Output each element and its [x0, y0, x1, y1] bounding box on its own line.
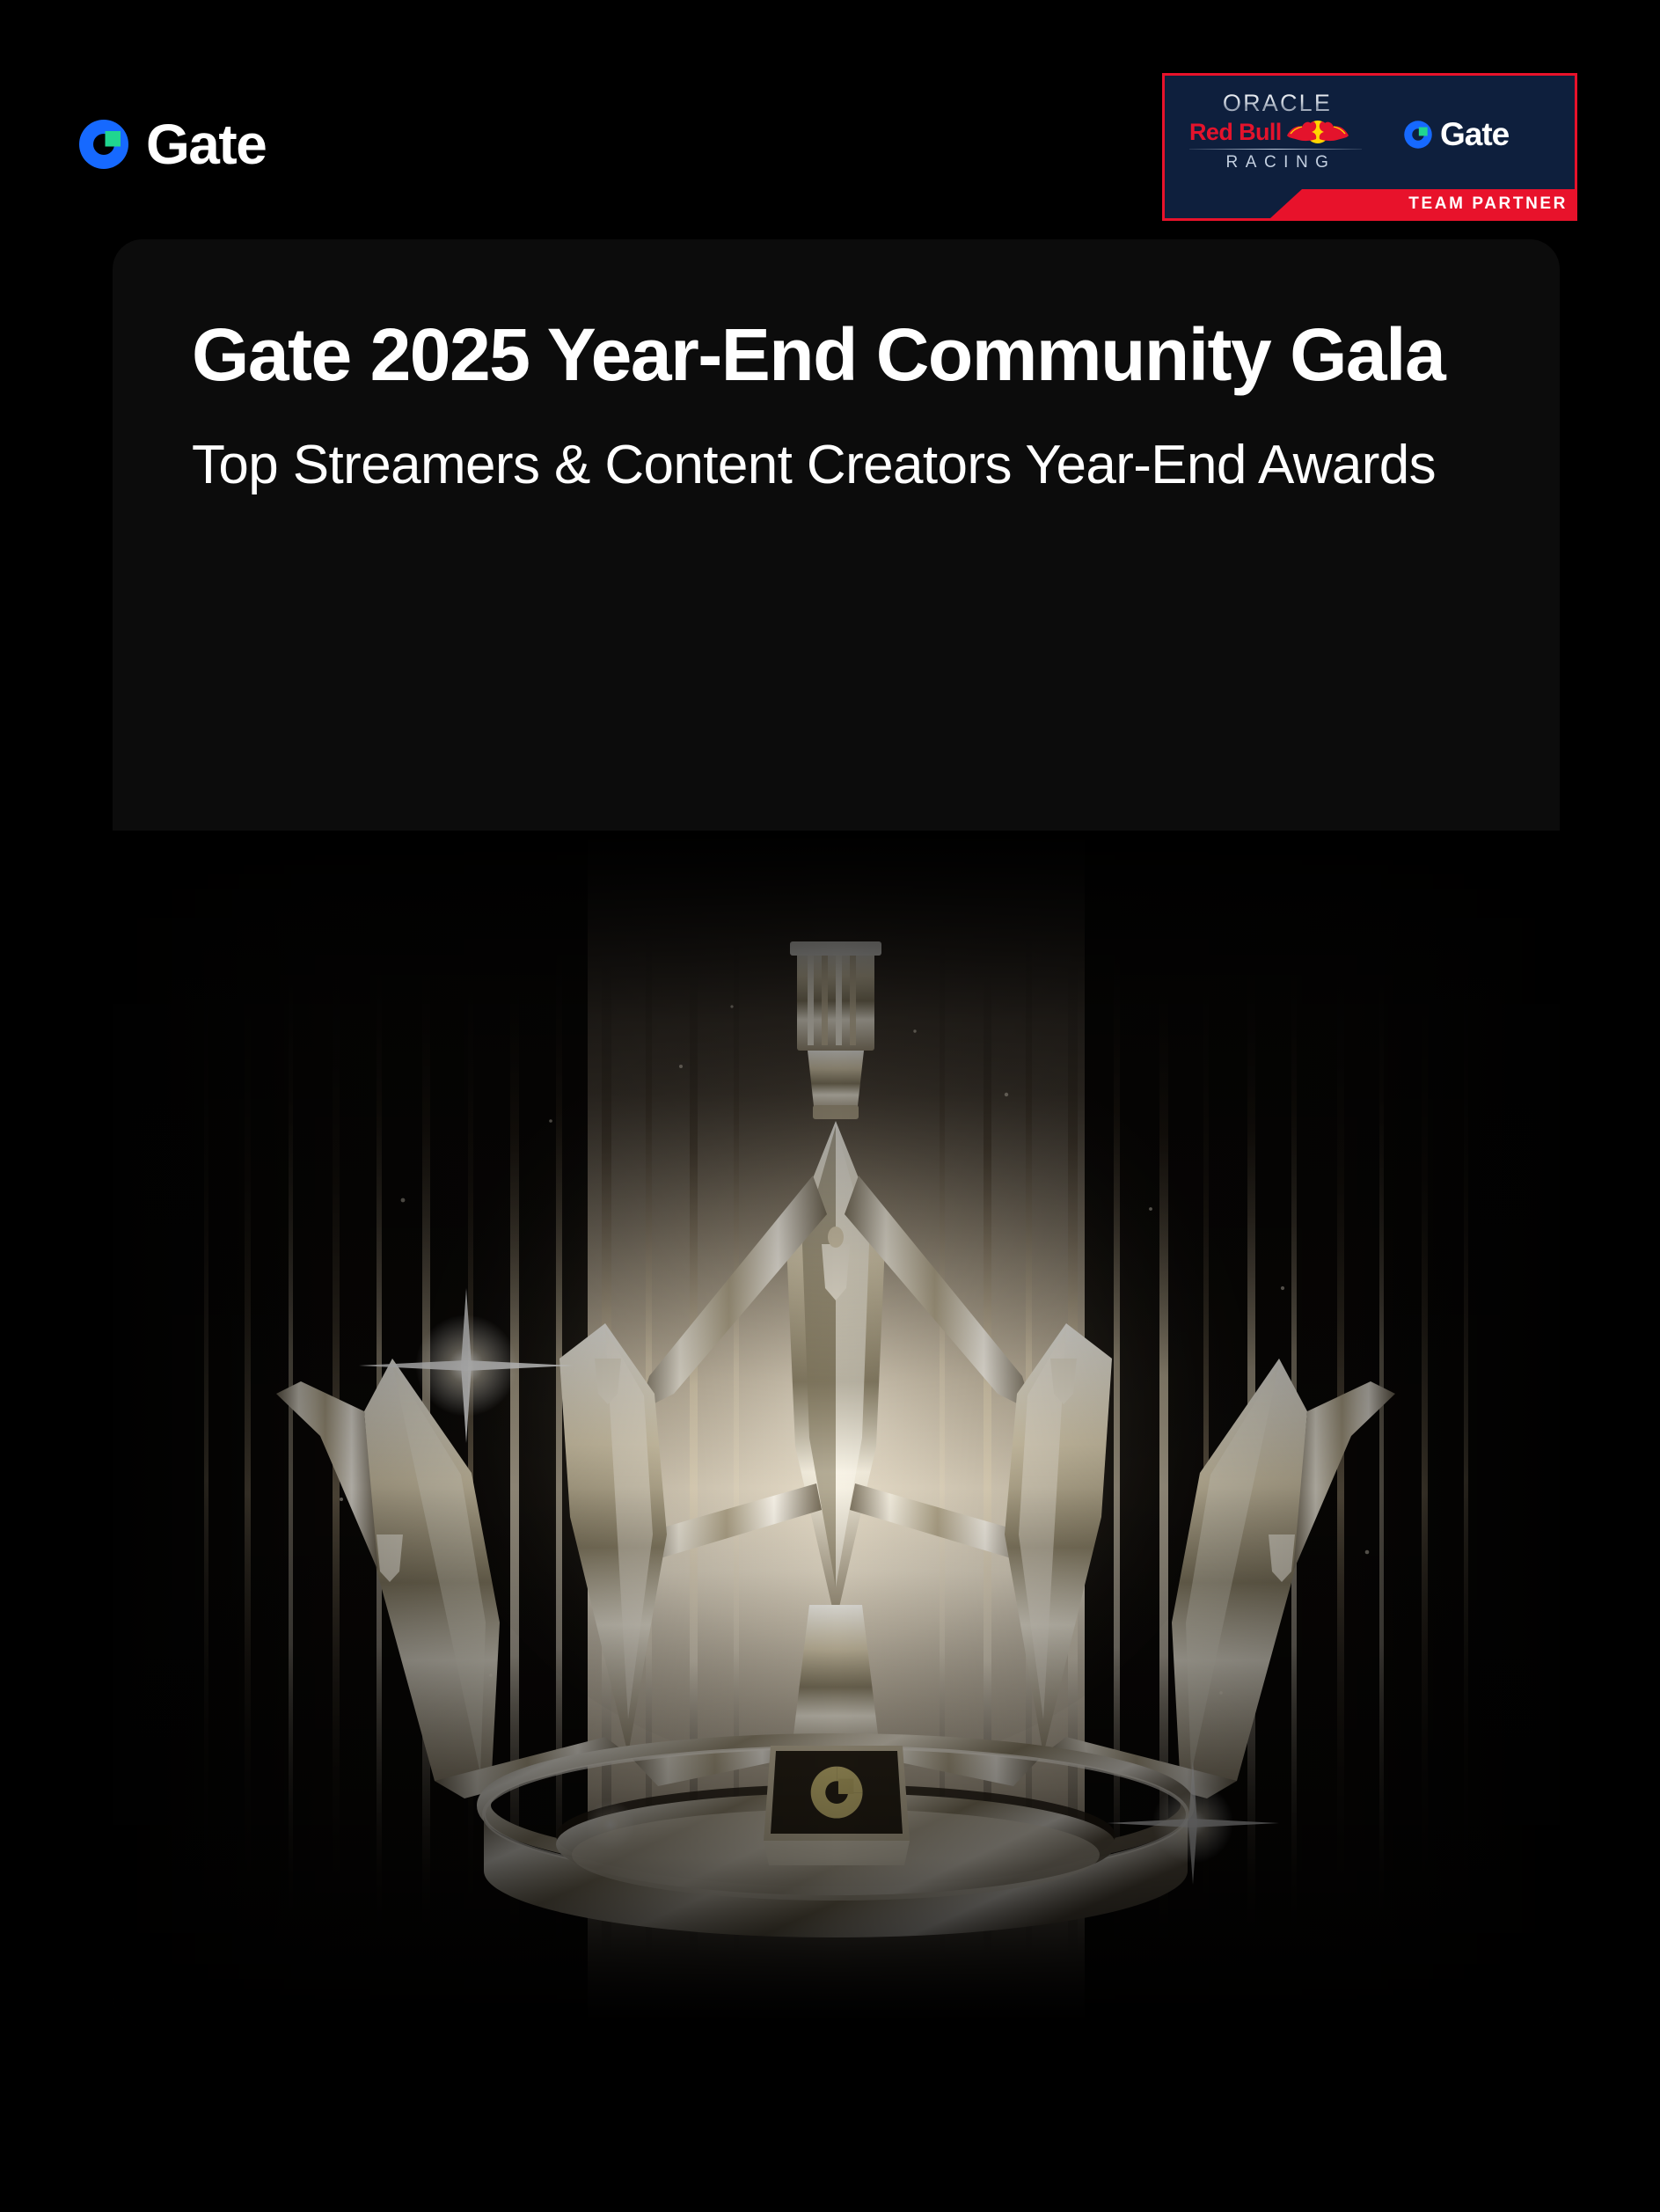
red-bull-racing-lockup: ORACLE Red Bull RACING — [1189, 90, 1365, 173]
gate-logo-icon — [1402, 119, 1434, 150]
gate-logo-icon — [76, 116, 132, 172]
red-bull-icon — [1285, 117, 1350, 146]
team-partner-label: TEAM PARTNER — [1408, 194, 1568, 215]
page-title: Gate 2025 Year-End Community Gala — [192, 310, 1481, 399]
badge-gate-wordmark: Gate — [1440, 118, 1509, 150]
card-text-block: Gate 2025 Year-End Community Gala Top St… — [113, 239, 1560, 498]
red-bull-wordmark: Red Bull — [1189, 119, 1282, 145]
team-partner-banner: TEAM PARTNER — [1165, 189, 1577, 218]
page-header: Gate ORACLE Red Bull — [0, 0, 1660, 239]
badge-gate-logo: Gate — [1402, 118, 1509, 150]
partner-badge: ORACLE Red Bull RACING — [1162, 73, 1577, 221]
crown-trophy-icon — [113, 831, 1560, 2025]
brand-logo[interactable]: Gate — [76, 116, 266, 172]
partner-badge-inner: ORACLE Red Bull RACING — [1165, 76, 1575, 218]
page-root: Gate ORACLE Red Bull — [0, 0, 1660, 2212]
badge-divider — [1189, 149, 1362, 150]
red-bull-row: Red Bull — [1189, 117, 1365, 146]
brand-wordmark: Gate — [146, 116, 266, 172]
event-card: Gate 2025 Year-End Community Gala Top St… — [113, 239, 1560, 2025]
page-subtitle: Top Streamers & Content Creators Year-En… — [192, 433, 1481, 497]
oracle-wordmark: ORACLE — [1189, 90, 1365, 116]
racing-wordmark: RACING — [1189, 152, 1365, 173]
hero-image — [113, 831, 1560, 2025]
